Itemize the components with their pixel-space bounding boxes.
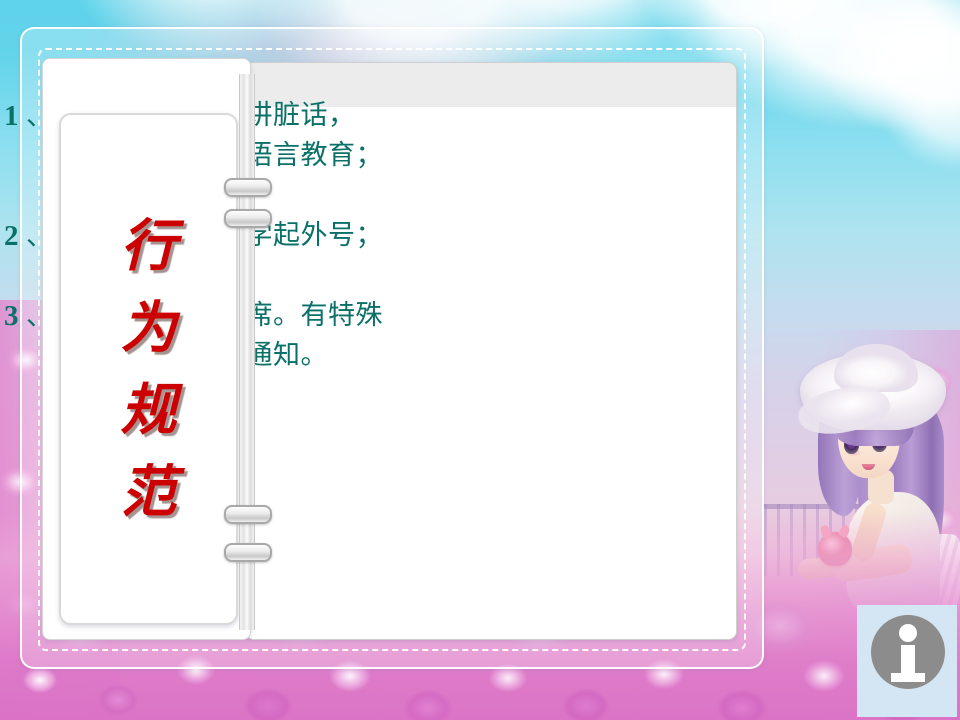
girl-sun-hat-crown: [834, 344, 918, 392]
binder-ring: [224, 209, 272, 228]
title-char: 范: [121, 463, 177, 521]
binder-ring: [224, 505, 272, 524]
binder-ring: [224, 178, 272, 197]
rule-number: 3: [4, 296, 26, 336]
info-icon-base: [891, 673, 925, 682]
page-title: 行 为 规 范: [121, 217, 177, 521]
slide-canvas: 1 、 部分同学在教室讲脏话， 家长在家要注意语言教育； 2 、 部分学生爱给同…: [0, 0, 960, 720]
binder-ring: [224, 543, 272, 562]
info-badge[interactable]: [857, 605, 957, 717]
title-char: 行: [121, 217, 177, 275]
rule-number: 1: [4, 96, 26, 136]
title-char: 规: [121, 381, 177, 439]
info-icon[interactable]: [871, 615, 945, 689]
info-icon-dot: [899, 624, 917, 642]
title-char: 为: [121, 299, 177, 357]
title-tab-panel: 行 为 规 范: [42, 58, 251, 640]
rule-number: 2: [4, 216, 26, 256]
title-card: 行 为 规 范: [59, 113, 238, 625]
